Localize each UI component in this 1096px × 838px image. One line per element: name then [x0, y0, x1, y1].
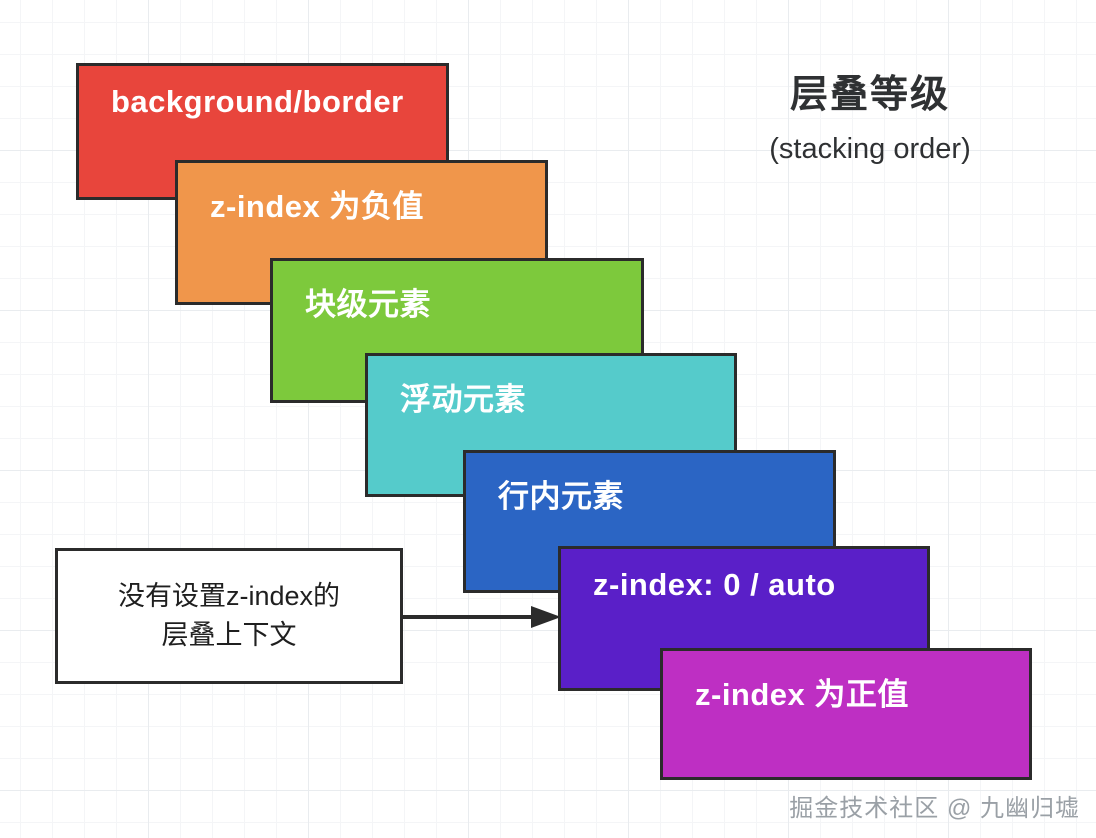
stacking-order-diagram: 层叠等级 (stacking order) background/border … — [0, 0, 1096, 838]
annotation-callout: 没有设置z-index的 层叠上下文 — [55, 548, 403, 684]
watermark-text: 掘金技术社区 @ 九幽归墟 — [0, 788, 1080, 823]
layer-z-index-positive: z-index 为正值 — [660, 648, 1032, 780]
layer-label: z-index: 0 / auto — [593, 567, 836, 603]
layer-label: z-index 为负值 — [210, 181, 424, 226]
layer-label: 块级元素 — [305, 279, 431, 324]
annotation-arrow-icon — [403, 604, 563, 630]
page-subtitle: (stacking order) — [690, 128, 1050, 170]
annotation-line-1: 没有设置z-index的 — [118, 577, 340, 616]
layer-label: z-index 为正值 — [695, 669, 909, 714]
page-title: 层叠等级 — [690, 72, 1050, 120]
annotation-line-2: 层叠上下文 — [162, 616, 297, 655]
layer-label: background/border — [111, 84, 404, 120]
layer-label: 行内元素 — [498, 471, 624, 516]
layer-label: 浮动元素 — [400, 374, 526, 419]
diagram-title-block: 层叠等级 (stacking order) — [690, 72, 1050, 170]
